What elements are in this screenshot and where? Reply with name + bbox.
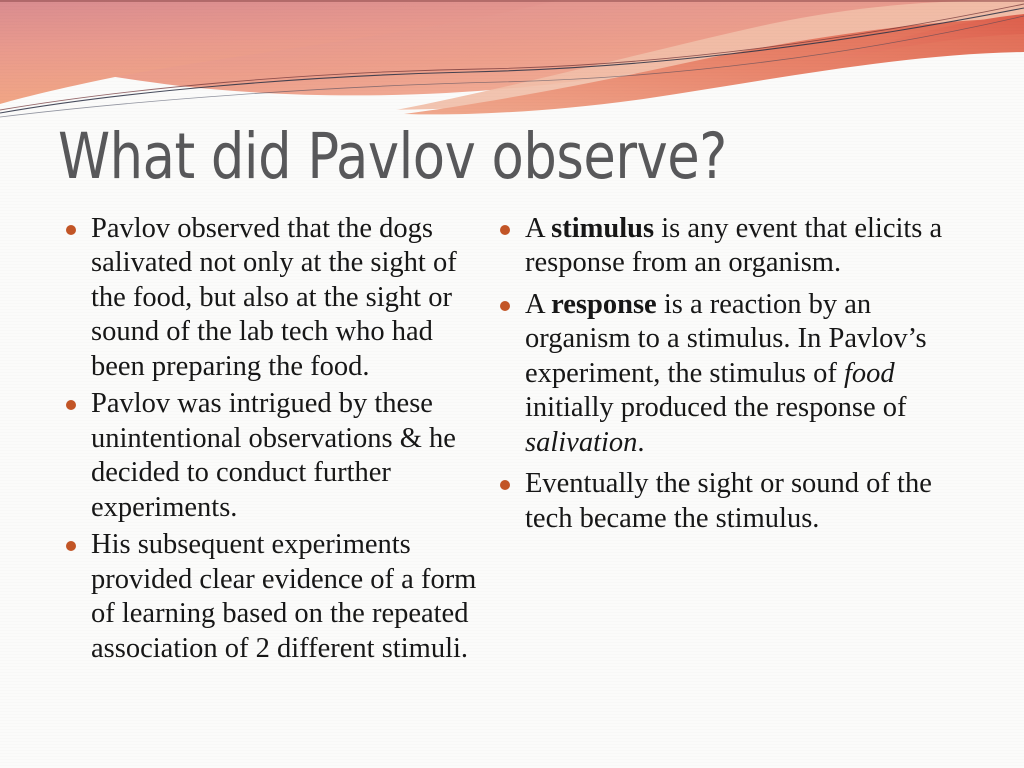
list-item: A response is a reaction by an organism … <box>494 288 968 460</box>
banner-top-edge-line <box>0 0 1024 2</box>
emphasis-bold: stimulus <box>551 213 654 244</box>
decorative-wave-banner <box>0 0 1024 118</box>
emphasis-bold: response <box>551 289 657 320</box>
text-run: . <box>637 427 644 458</box>
list-item: His subsequent experiments provided clea… <box>60 528 480 666</box>
list-item: Pavlov observed that the dogs salivated … <box>60 212 480 384</box>
slide-canvas: What did Pavlov observe? Pavlov observed… <box>0 0 1024 768</box>
text-run: initially produced the response of <box>525 392 906 423</box>
emphasis-italic: food <box>844 358 895 389</box>
text-run: Eventually the sight or sound of the tec… <box>525 468 932 533</box>
page-title: What did Pavlov observe? <box>58 124 895 190</box>
content-column-right: A stimulus is any event that elicits a r… <box>480 212 1024 543</box>
text-run: A <box>525 289 551 320</box>
list-item: A stimulus is any event that elicits a r… <box>494 212 968 281</box>
list-item: Pavlov was intrigued by these unintentio… <box>60 387 480 525</box>
emphasis-italic: salivation <box>525 427 637 458</box>
text-run: A <box>525 213 551 244</box>
list-item: Eventually the sight or sound of the tec… <box>494 467 968 536</box>
bullet-list-right: A stimulus is any event that elicits a r… <box>494 212 968 536</box>
content-column-left: Pavlov observed that the dogs salivated … <box>0 212 480 669</box>
bullet-list-left: Pavlov observed that the dogs salivated … <box>60 212 480 666</box>
slide-body: Pavlov observed that the dogs salivated … <box>0 212 1024 732</box>
